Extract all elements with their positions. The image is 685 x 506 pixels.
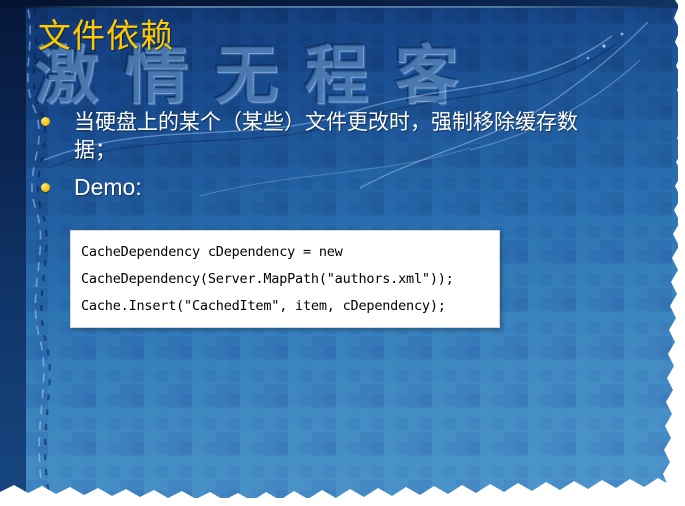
code-line: Cache.Insert("CachedItem", item, cDepend…	[81, 293, 489, 320]
code-sample-box: CacheDependency cDependency = new CacheD…	[70, 230, 500, 328]
bullet-item-label: Demo:	[74, 172, 614, 202]
bullet-list: 当硬盘上的某个（某些）文件更改时，强制移除缓存数据； Demo:	[34, 108, 614, 210]
bullet-item-label: 当硬盘上的某个（某些）文件更改时，强制移除缓存数据；	[74, 108, 614, 164]
bullet-dot-icon	[41, 117, 50, 126]
code-line: CacheDependency(Server.MapPath("authors.…	[81, 266, 489, 293]
list-item: Demo:	[34, 172, 614, 202]
code-line: CacheDependency cDependency = new	[81, 239, 489, 266]
page-title: 文件依赖	[38, 16, 174, 56]
top-edge-highlight	[16, 6, 666, 8]
list-item: 当硬盘上的某个（某些）文件更改时，强制移除缓存数据；	[34, 108, 614, 164]
left-edge-band	[0, 0, 26, 498]
presentation-slide: 激情无程客 文件依赖 当硬盘上的某个（某些）文件更改时，强制移除缓存数据； De…	[0, 0, 685, 506]
bullet-dot-icon	[41, 183, 50, 192]
